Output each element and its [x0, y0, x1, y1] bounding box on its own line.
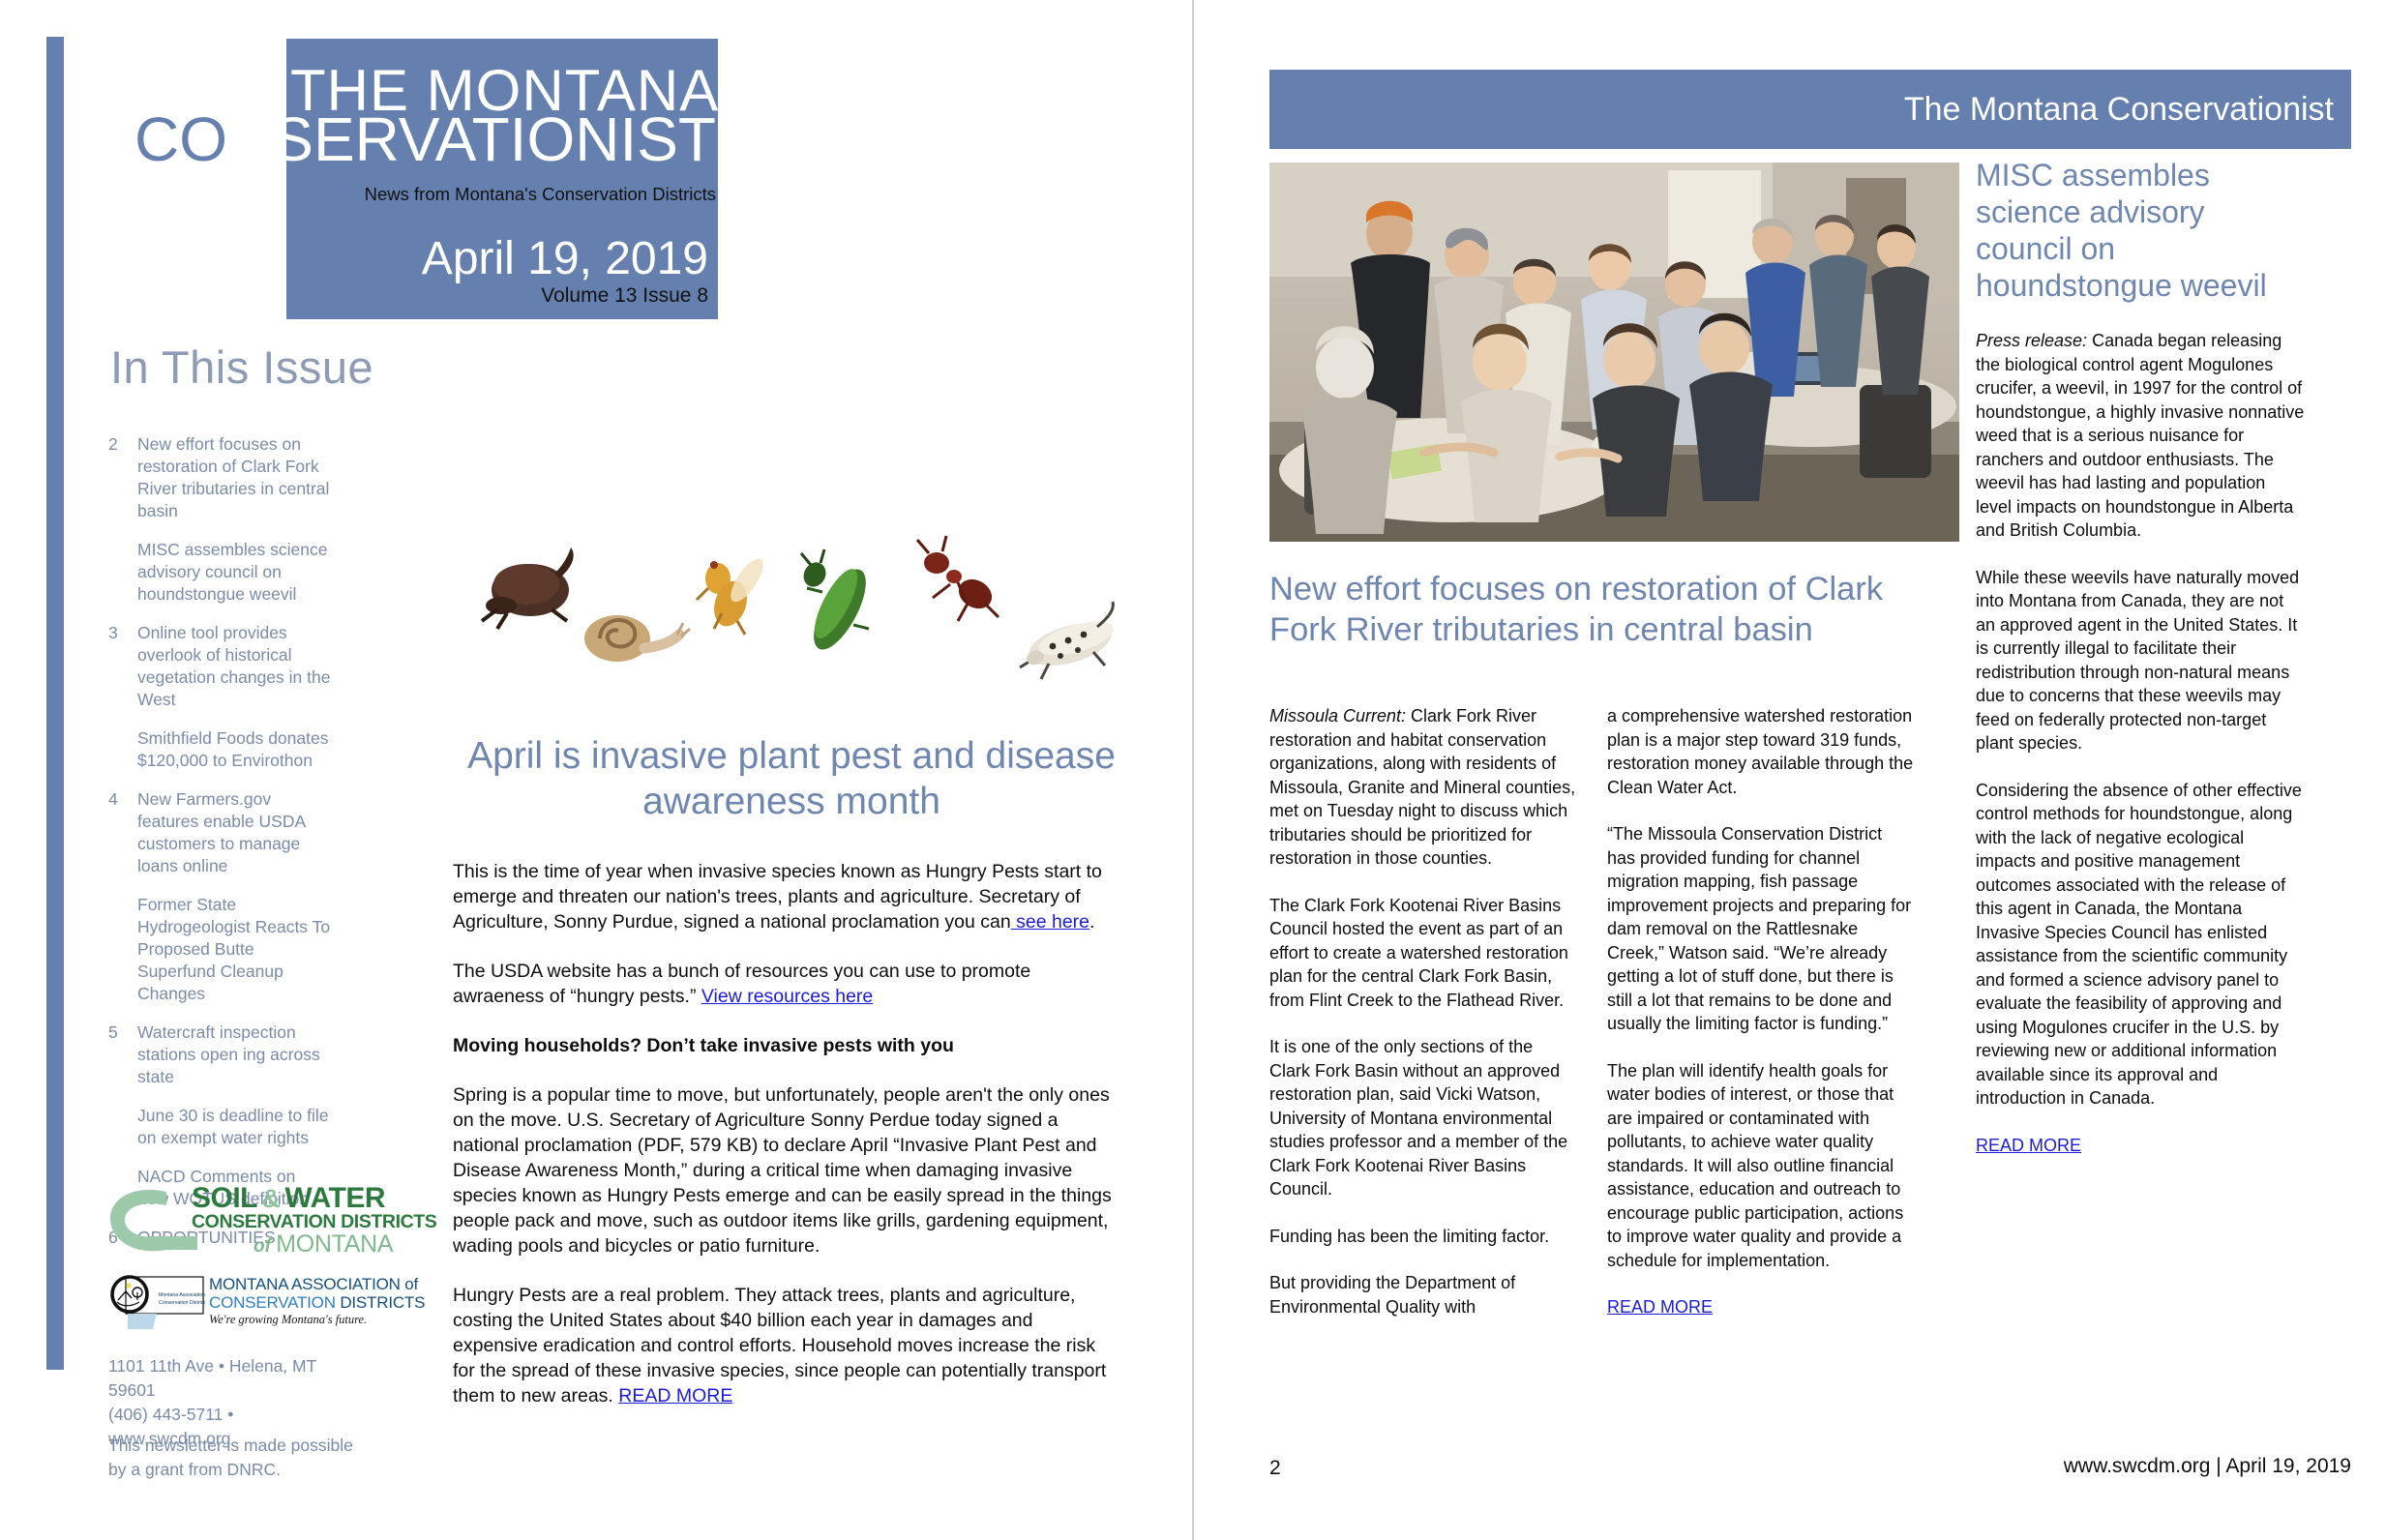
- paragraph-text: Clark Fork River restoration and habitat…: [1269, 706, 1575, 868]
- page2-article-column-1: Missoula Current: Clark Fork River resto…: [1269, 704, 1577, 1342]
- paragraph-1-text-b: .: [1089, 911, 1094, 933]
- macd-districts-text: DISTRICTS: [340, 1293, 425, 1312]
- toc-item[interactable]: Smithfield Foods donates $120,000 to Env…: [108, 727, 331, 772]
- page2-article-headline: New effort focuses on restoration of Cla…: [1269, 569, 1947, 650]
- paragraph: It is one of the only sections of the Cl…: [1269, 1035, 1577, 1201]
- macd-conservation-text: CONSERVATION: [209, 1293, 340, 1312]
- masthead-tagline: News from Montana's Conservation Distric…: [290, 184, 716, 205]
- macd-logo: Montana Association of Conservation Dist…: [108, 1275, 358, 1335]
- subheading: Moving households? Don’t take invasive p…: [453, 1033, 1120, 1058]
- toc-item[interactable]: MISC assembles science advisory council …: [108, 539, 331, 606]
- paragraph: a comprehensive watershed restoration pl…: [1607, 704, 1915, 799]
- swcdm-ampersand: &: [261, 1184, 281, 1213]
- meeting-room-photo: [1269, 163, 1959, 542]
- toc-item-label: June 30 is deadline to file on exempt wa…: [137, 1105, 331, 1149]
- paragraph-2: The USDA website has a bunch of resource…: [453, 959, 1120, 1009]
- paragraph: But providing the Department of Environm…: [1269, 1271, 1577, 1318]
- swcdm-line1: SOIL & WATER: [192, 1182, 385, 1215]
- paragraph-3: Spring is a popular time to move, but un…: [453, 1082, 1120, 1259]
- paragraph: Missoula Current: Clark Fork River resto…: [1269, 704, 1577, 871]
- toc-page-number: [108, 894, 137, 1005]
- page2-sidebar-article: MISC assembles science advisory council …: [1976, 157, 2305, 1180]
- page-number: 2: [1269, 1457, 1281, 1480]
- page2-article-column-2: a comprehensive watershed restoration pl…: [1607, 704, 1915, 1343]
- page-title: April is invasive plant pest and disease…: [453, 733, 1130, 824]
- view-resources-link[interactable]: View resources here: [701, 986, 873, 1007]
- paragraph: The Clark Fork Kootenai River Basins Cou…: [1269, 894, 1577, 1013]
- rhinoceros-beetle-image: [482, 548, 574, 629]
- read-more-link[interactable]: READ MORE: [1607, 1297, 1713, 1317]
- left-accent-bar: [46, 37, 64, 1370]
- page-2: The Montana Conservationist: [1194, 0, 2386, 1540]
- sidebar-headline: MISC assembles science advisory council …: [1976, 157, 2305, 304]
- toc-item[interactable]: 5 Watercraft inspection stations open in…: [108, 1022, 331, 1088]
- grant-note: This newsletter is made possible by a gr…: [108, 1434, 360, 1482]
- paragraph-4-text: Hungry Pests are a real problem. They at…: [453, 1285, 1106, 1407]
- toc-item[interactable]: 2 New effort focuses on restoration of C…: [108, 433, 331, 522]
- macd-badge-icon: Montana Association of Conservation Dist…: [108, 1275, 205, 1331]
- page-footer: www.swcdm.org | April 19, 2019: [1775, 1455, 2351, 1478]
- press-release-label: Press release:: [1976, 331, 2087, 350]
- paragraph: Funding has been the limiting factor.: [1269, 1225, 1577, 1249]
- macd-tagline: We're growing Montana's future.: [209, 1313, 367, 1327]
- masthead-title-line2-overflow: CO: [134, 104, 227, 174]
- paragraph: READ MORE: [1976, 1134, 2305, 1158]
- masthead-volume-issue: Volume 13 Issue 8: [290, 284, 708, 308]
- swcdm-logo: SOIL & WATER CONSERVATION DISTRICTS of M…: [108, 1182, 350, 1263]
- toc-item-label: MISC assembles science advisory council …: [137, 539, 331, 606]
- masthead-title-line2-inbox: NSERVATIONIST: [227, 104, 716, 174]
- toc-item-label: New effort focuses on restoration of Cla…: [137, 433, 331, 522]
- toc-item-label: Watercraft inspection stations open ing …: [137, 1022, 331, 1088]
- macd-badge-line1: Montana Association of: [159, 1292, 205, 1298]
- in-this-issue-title: In This Issue: [110, 341, 373, 394]
- paragraph: Considering the absence of other effecti…: [1976, 779, 2305, 1111]
- masthead-title-line2: CONSERVATIONIST: [97, 104, 716, 174]
- swcdm-of-text: of: [254, 1236, 276, 1257]
- swcdm-hook-icon: [108, 1186, 197, 1258]
- macd-badge-line2: Conservation Districts: [159, 1300, 205, 1306]
- paragraph: “The Missoula Conservation District has …: [1607, 822, 1915, 1036]
- read-more-link[interactable]: READ MORE: [618, 1385, 732, 1407]
- swcdm-montana-text: MONTANA: [276, 1230, 393, 1258]
- masthead-date: April 19, 2019: [290, 234, 708, 284]
- invasive-pest-photos: [455, 520, 1122, 704]
- red-imported-fire-ant-image: [917, 536, 999, 621]
- source-attribution: Missoula Current:: [1269, 706, 1406, 726]
- emerald-ash-borer-image: [799, 549, 876, 657]
- toc-page-number: [108, 1105, 137, 1149]
- toc-item[interactable]: 4 New Farmers.gov features enable USDA c…: [108, 788, 331, 877]
- paragraph: The plan will identify health goals for …: [1607, 1059, 1915, 1273]
- toc-page-number: [108, 539, 137, 606]
- toc-item-label: Former State Hydrogeologist Reacts To Pr…: [137, 894, 331, 1005]
- toc-page-number: 4: [108, 788, 137, 877]
- toc-page-number: [108, 727, 137, 772]
- table-of-contents: 2 New effort focuses on restoration of C…: [108, 433, 331, 1265]
- newsletter-spread: THE MONTANA CONSERVATIONIST News from Mo…: [0, 0, 2386, 1540]
- toc-page-number: 5: [108, 1022, 137, 1088]
- toc-item[interactable]: 3 Online tool provides overlook of histo…: [108, 622, 331, 711]
- paragraph-1-text-a: This is the time of year when invasive s…: [453, 861, 1102, 933]
- spotted-lanternfly-image: [1020, 602, 1117, 679]
- toc-item[interactable]: June 30 is deadline to file on exempt wa…: [108, 1105, 331, 1149]
- paragraph-4: Hungry Pests are a real problem. They at…: [453, 1283, 1120, 1408]
- see-here-link[interactable]: see here: [1011, 911, 1089, 933]
- page2-banner-title: The Montana Conservationist: [1269, 91, 2334, 129]
- paragraph: Press release: Canada began releasing th…: [1976, 329, 2305, 543]
- snail-image: [584, 615, 690, 662]
- swcdm-line3: of MONTANA: [254, 1230, 393, 1259]
- macd-line2: CONSERVATION DISTRICTS: [209, 1293, 425, 1313]
- paragraph: While these weevils have naturally moved…: [1976, 566, 2305, 755]
- page-1: THE MONTANA CONSERVATIONIST News from Mo…: [0, 0, 1192, 1540]
- toc-item-label: Online tool provides overlook of histori…: [137, 622, 331, 711]
- toc-item-label: New Farmers.gov features enable USDA cus…: [137, 788, 331, 877]
- toc-page-number: 3: [108, 622, 137, 711]
- swcdm-water-text: WATER: [284, 1182, 385, 1214]
- article-body-page1: This is the time of year when invasive s…: [453, 859, 1120, 1433]
- swcdm-soil-text: SOIL: [192, 1182, 257, 1214]
- macd-line1: MONTANA ASSOCIATION of: [209, 1275, 418, 1294]
- toc-page-number: 2: [108, 433, 137, 522]
- fruit-fly-image: [697, 554, 769, 635]
- paragraph: READ MORE: [1607, 1295, 1915, 1319]
- toc-item-label: Smithfield Foods donates $120,000 to Env…: [137, 727, 331, 772]
- read-more-link[interactable]: READ MORE: [1976, 1136, 2081, 1155]
- toc-item[interactable]: Former State Hydrogeologist Reacts To Pr…: [108, 894, 331, 1005]
- paragraph-text: Canada began releasing the biological co…: [1976, 331, 2304, 540]
- paragraph-1: This is the time of year when invasive s…: [453, 859, 1120, 934]
